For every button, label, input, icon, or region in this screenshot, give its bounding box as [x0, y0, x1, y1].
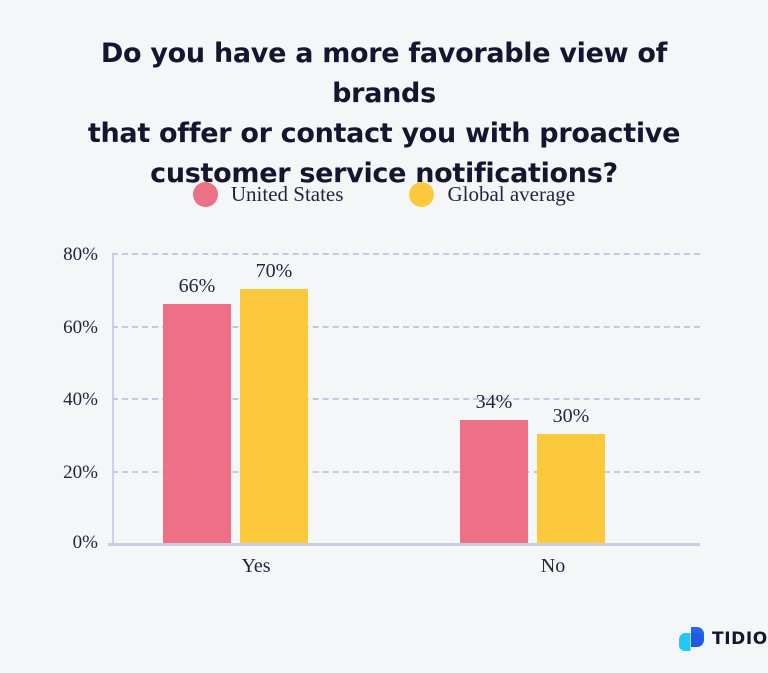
y-tick-label: 60% [63, 317, 98, 339]
title-line-1: Do you have a more favorable view of bra… [84, 34, 684, 114]
y-tick-label: 20% [63, 462, 98, 484]
legend-swatch-icon [409, 182, 434, 207]
bar-yes-global-average[interactable]: 70% [240, 289, 308, 543]
bar-value-label: 66% [179, 275, 216, 298]
tidio-mark-icon [677, 625, 705, 653]
y-tick-label: 0% [73, 532, 98, 554]
y-tick-label: 80% [63, 244, 98, 266]
chart-legend: United States Global average [0, 182, 768, 207]
bar-no-united-states[interactable]: 34% [460, 420, 528, 543]
x-axis-line [108, 543, 700, 546]
legend-label: Global average [447, 182, 575, 207]
x-category-label-yes: Yes [241, 555, 270, 578]
plot-area: 80% 60% 40% 20% 0% 66% 70% 34% 30% Yes N… [112, 253, 700, 543]
legend-item-global-average[interactable]: Global average [409, 182, 575, 207]
tidio-wordmark: TIDIO [712, 629, 768, 649]
legend-swatch-icon [193, 182, 218, 207]
title-line-2: that offer or contact you with proactive [84, 114, 684, 154]
legend-label: United States [231, 182, 344, 207]
bar-no-global-average[interactable]: 30% [537, 434, 605, 543]
gridline-80: 80% [112, 253, 700, 255]
bar-value-label: 30% [553, 405, 590, 428]
bar-yes-united-states[interactable]: 66% [163, 304, 231, 543]
bar-value-label: 70% [256, 260, 293, 283]
x-category-label-no: No [541, 555, 565, 578]
legend-item-united-states[interactable]: United States [193, 182, 344, 207]
page-title: Do you have a more favorable view of bra… [84, 34, 684, 194]
tidio-logo: TIDIO [677, 625, 768, 653]
bar-value-label: 34% [476, 391, 513, 414]
y-tick-label: 40% [63, 389, 98, 411]
chart-page: Do you have a more favorable view of bra… [0, 0, 768, 673]
